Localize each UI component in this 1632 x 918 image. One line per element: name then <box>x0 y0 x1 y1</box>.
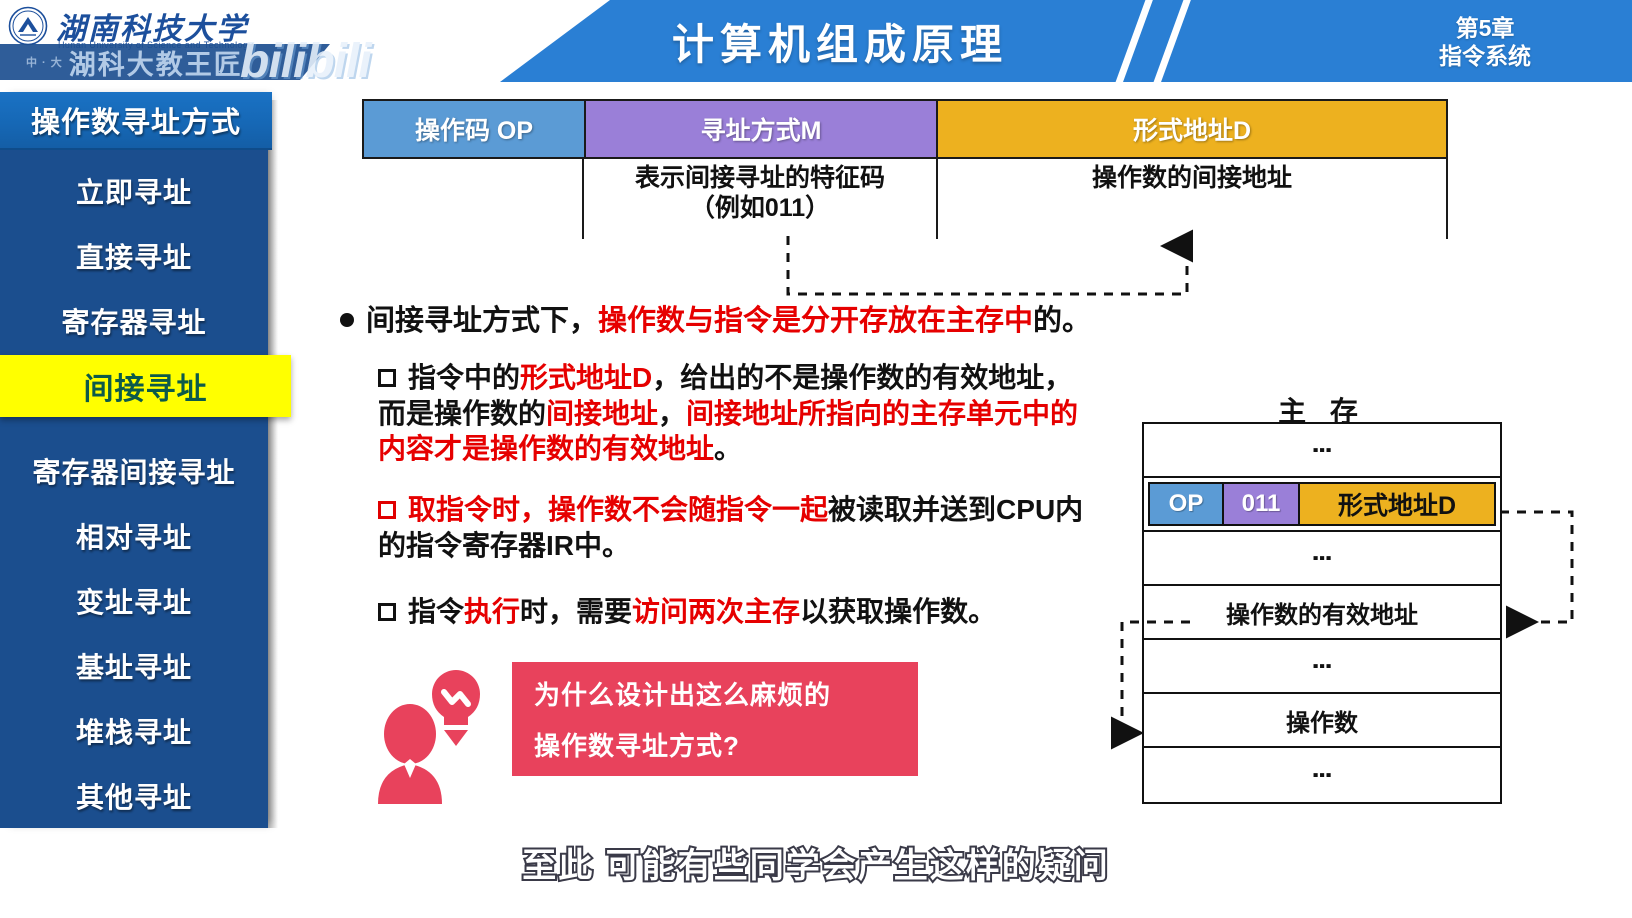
desc-formal-address: 操作数的间接地址 <box>938 163 1446 193</box>
bilibili-logo: bilibili <box>240 34 371 82</box>
sidebar-item-7[interactable]: 基址寻址 <box>0 635 268 697</box>
instruction-format-desc-row: 表示间接寻址的特征码 （例如011） 操作数的间接地址 <box>362 159 1448 239</box>
bullet4-seg5: 以获取操作数。 <box>800 596 996 627</box>
bullet-square-icon-red <box>378 501 396 519</box>
page-title: 计算机组成原理 <box>560 8 1120 74</box>
watermark-main-text: 湖科大教王匠 <box>69 43 243 82</box>
instruction-format-fields-row: 操作码 OP 寻址方式M 形式地址D <box>362 99 1448 159</box>
sidebar-shadow <box>268 100 278 828</box>
chapter-name: 指令系统 <box>1439 42 1531 70</box>
sidebar-item-8[interactable]: 堆栈寻址 <box>0 700 268 762</box>
sidebar-item-2[interactable]: 寄存器寻址 <box>0 290 268 352</box>
sidebar-item-4[interactable]: 寄存器间接寻址 <box>0 440 268 502</box>
memory-ellipsis: ⋮ <box>1315 547 1328 569</box>
bullet-square-icon-2 <box>378 603 396 621</box>
bullet4-seg4: 访问两次主存 <box>632 596 800 627</box>
memory-row-3: 操作数的有效地址 <box>1144 586 1500 640</box>
memory-instr-mode: 011 <box>1224 484 1300 524</box>
memory-row-2: ⋮ <box>1144 532 1500 586</box>
bullet-2: 指令中的形式地址D，给出的不是操作数的有效地址，而是操作数的间接地址，间接地址所… <box>378 360 1098 467</box>
bullet3-seg1: 取指 <box>408 494 464 525</box>
bullet1-black-prefix: 间接寻址方式下， <box>366 305 598 337</box>
slide-root: 湖南科技大学 Hunan University of Science and T… <box>0 0 1632 918</box>
university-logo-icon <box>8 6 48 46</box>
bullet3-seg2: 令时， <box>464 494 548 525</box>
memory-ellipsis: ⋮ <box>1315 439 1328 461</box>
question-line-1: 为什么设计出这么麻烦的 <box>534 675 896 712</box>
memory-ellipsis: ⋮ <box>1315 764 1328 786</box>
sidebar-item-6[interactable]: 变址寻址 <box>0 570 268 632</box>
bullet1-red-part: 操作数与指令是分开存放在主存中 <box>598 305 1033 337</box>
instruction-format-diagram: 操作码 OP 寻址方式M 形式地址D 表示间接寻址的特征码 （例如011） 操作… <box>362 99 1448 239</box>
desc-d-line1: 操作数的间接地址 <box>1092 163 1292 193</box>
bullet2-seg1: 指令中的 <box>408 362 520 393</box>
memory-row-label: 操作数 <box>1286 703 1358 738</box>
person-with-idea-icon <box>368 652 498 804</box>
sidebar-item-1[interactable]: 直接寻址 <box>0 225 268 287</box>
bullet2-seg7: 。 <box>714 433 742 464</box>
sidebar-item-5[interactable]: 相对寻址 <box>0 505 268 567</box>
bullet2-seg2: 形式地址D <box>520 362 652 393</box>
bullet4-seg2: 执行 <box>464 596 520 627</box>
header-slash-decor-2 <box>1152 0 1191 82</box>
chapter-number: 第5章 <box>1456 14 1515 42</box>
bullet-4: 指令执行时，需要访问两次主存以获取操作数。 <box>378 594 1098 630</box>
bullet4-seg3: 时，需要 <box>520 596 632 627</box>
memory-row-4: ⋮ <box>1144 640 1500 694</box>
memory-row-label: 操作数的有效地址 <box>1226 595 1418 630</box>
sidebar-item-0[interactable]: 立即寻址 <box>0 160 268 222</box>
bullet2-seg4: 间接地址 <box>546 398 658 429</box>
bullet-square-icon <box>378 369 396 387</box>
memory-instruction-word: OP011形式地址D <box>1148 482 1496 526</box>
chapter-label: 第5章 指令系统 <box>1340 4 1630 80</box>
video-subtitle: 至此 可能有些同学会产生这样的疑问 <box>0 838 1632 887</box>
watermark-small-text: 中 · 大 <box>26 54 63 70</box>
memory-row-5: 操作数 <box>1144 694 1500 748</box>
memory-row-1: OP011形式地址D <box>1144 478 1500 532</box>
memory-row-0: ⋮ <box>1144 424 1500 478</box>
sidebar-heading: 操作数寻址方式 <box>0 92 272 150</box>
bullet-dot-icon <box>340 313 354 327</box>
memory-ellipsis: ⋮ <box>1315 655 1328 677</box>
arrow-formal-address-to-effective-address <box>1500 512 1572 622</box>
header-bar: 湖南科技大学 Hunan University of Science and T… <box>0 0 1632 82</box>
arrow-mode-to-address <box>788 236 1187 294</box>
bullet-1: 间接寻址方式下，操作数与指令是分开存放在主存中的。 <box>340 303 1130 341</box>
field-addressing-mode: 寻址方式M <box>586 101 938 157</box>
bullet1-black-suffix: 的。 <box>1033 305 1091 337</box>
field-opcode: 操作码 OP <box>364 101 586 157</box>
bullet2-seg5: ， <box>658 398 686 429</box>
desc-m-line2: （例如011） <box>690 193 830 223</box>
sidebar-item-9[interactable]: 其他寻址 <box>0 765 268 827</box>
desc-divider-right <box>1446 159 1448 239</box>
field-formal-address: 形式地址D <box>938 101 1446 157</box>
question-callout-box: 为什么设计出这么麻烦的 操作数寻址方式? <box>512 662 918 776</box>
memory-instr-opcode: OP <box>1150 484 1224 524</box>
memory-row-6: ⋮ <box>1144 748 1500 802</box>
bullet-3: 取指令时，操作数不会随指令一起被读取并送到CPU内的指令寄存器IR中。 <box>378 492 1098 563</box>
question-line-2: 操作数寻址方式? <box>534 726 896 763</box>
sidebar-item-3[interactable]: 间接寻址 <box>0 355 291 417</box>
memory-diagram: ⋮OP011形式地址D⋮操作数的有效地址⋮操作数⋮ <box>1142 422 1502 804</box>
desc-addressing-mode: 表示间接寻址的特征码 （例如011） <box>584 163 936 223</box>
memory-instr-address: 形式地址D <box>1300 484 1494 524</box>
bullet4-seg1: 指令 <box>408 596 464 627</box>
bullet3-seg3: 操作数不会随指令一起 <box>548 494 828 525</box>
desc-m-line1: 表示间接寻址的特征码 <box>635 163 885 193</box>
